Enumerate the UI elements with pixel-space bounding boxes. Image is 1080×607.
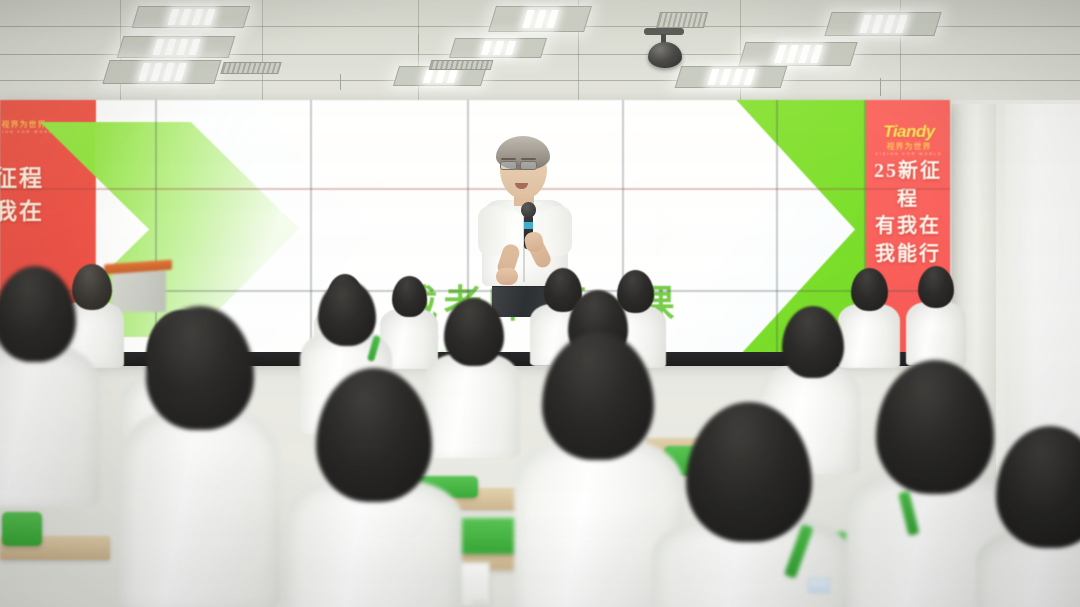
- ceiling-light-panel: [132, 6, 251, 28]
- attendee-shirt: [906, 302, 966, 366]
- slogan-right-line1: 25新征程: [866, 158, 950, 213]
- attendee-head: [542, 332, 654, 460]
- attendee-head: [392, 276, 427, 317]
- ceiling-light-panel: [117, 36, 236, 58]
- audience-area: 张志军 Tiandy: [0, 250, 1080, 607]
- ceiling-light-panel: [675, 66, 788, 88]
- logo-en-right: VISION FOR WORLD: [872, 152, 946, 156]
- dome-security-camera: [648, 42, 682, 68]
- presenter-sleeve-left: [478, 206, 506, 256]
- presenter-eyebrow-right: [521, 158, 536, 160]
- attendee: [652, 402, 852, 607]
- ceiling-light-panel: [738, 42, 857, 66]
- attendee-head: [146, 306, 254, 430]
- microphone-accent-ring: [524, 222, 533, 229]
- logo-wordmark: Tiandy: [883, 122, 934, 142]
- photo-scene: 视界为世界 VISION FOR WORLD 征程 我在 戴老师 第一课 让我们…: [0, 0, 1080, 607]
- eyeglasses-bridge: [517, 165, 521, 166]
- attendee-shirt: [120, 410, 280, 607]
- eyeglasses-lens-left: [500, 161, 517, 170]
- ceiling-light-panel: [488, 6, 592, 32]
- microphone-head: [521, 202, 536, 218]
- air-vent: [429, 60, 494, 70]
- presenter-eyebrow-left: [501, 158, 516, 160]
- ceiling-hanger: [418, 34, 419, 52]
- attendee-head: [316, 368, 432, 502]
- attendee-head: [918, 266, 954, 308]
- attendee-head: [0, 266, 76, 362]
- slogan-left: 征程 我在: [0, 162, 82, 229]
- logo-cn-right: 视界为世界: [872, 141, 946, 152]
- attendee: [120, 306, 280, 607]
- air-vent: [656, 12, 708, 28]
- slogan-left-line1: 征程: [0, 162, 82, 195]
- air-vent: [220, 62, 281, 74]
- attendee: [286, 368, 462, 607]
- attendee: [976, 426, 1080, 607]
- ceiling-light-panel: [102, 60, 221, 84]
- ceiling-hanger: [340, 74, 341, 90]
- green-chair-back: [2, 512, 42, 546]
- attendee-shirt: [0, 346, 100, 506]
- attendee-head: [318, 280, 376, 346]
- slogan-right-line2: 有我在: [866, 213, 950, 241]
- ceiling-hanger: [880, 78, 881, 96]
- eyeglasses-lens-right: [520, 161, 537, 170]
- attendee-head: [686, 402, 812, 542]
- attendee-head: [444, 298, 504, 366]
- badge: [808, 578, 830, 593]
- ceiling-light-panel: [824, 12, 941, 36]
- attendee-head: [782, 306, 844, 378]
- attendee: [906, 266, 966, 364]
- ceiling: [0, 0, 1080, 104]
- name-card-tag: Tiandy: [472, 600, 486, 604]
- presenter-sleeve-right: [544, 206, 572, 256]
- attendee: [0, 266, 100, 496]
- attendee-head: [996, 426, 1080, 548]
- attendee-head: [851, 268, 888, 311]
- slogan-left-line2: 我在: [0, 195, 82, 228]
- logo-right: Tiandy 视界为世界 VISION FOR WORLD: [872, 122, 946, 156]
- ceiling-light-panel: [449, 38, 547, 58]
